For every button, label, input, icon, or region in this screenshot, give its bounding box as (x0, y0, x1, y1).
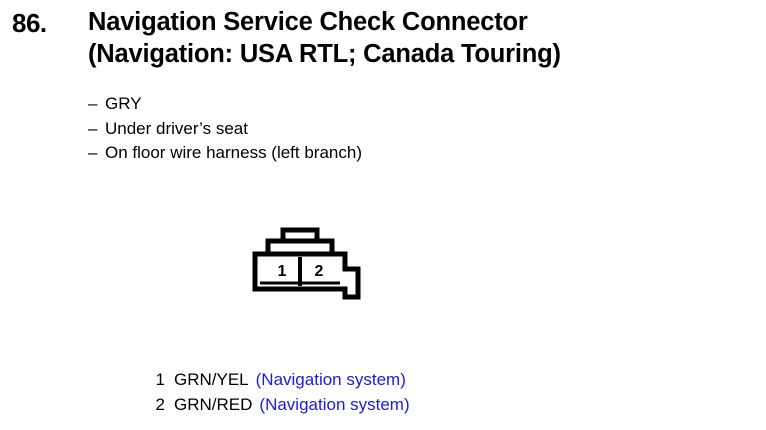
pin-legend-row: 2GRN/RED(Navigation system) (152, 392, 410, 417)
pin-wire-color: GRN/RED (174, 395, 252, 414)
list-item: –Under driver’s seat (88, 117, 362, 142)
pin-number: 2 (152, 392, 165, 417)
pin-description: (Navigation system) (259, 395, 409, 414)
page-title: Navigation Service Check Connector (Navi… (88, 6, 760, 70)
connector-diagram: 1 2 (250, 226, 380, 316)
detail-list: –GRY –Under driver’s seat –On floor wire… (88, 92, 362, 166)
list-item-label: GRY (105, 94, 142, 113)
cavity-label-2: 2 (315, 263, 324, 280)
list-item: –On floor wire harness (left branch) (88, 141, 362, 166)
pin-wire-color: GRN/YEL (174, 370, 249, 389)
dash-icon: – (88, 92, 105, 117)
list-item-label: On floor wire harness (left branch) (105, 143, 362, 162)
pin-legend-row: 1GRN/YEL(Navigation system) (152, 367, 410, 392)
page-title-line-2: (Navigation: USA RTL; Canada Touring) (88, 38, 760, 70)
dash-icon: – (88, 141, 105, 166)
connector-housing (255, 254, 358, 297)
pin-number: 1 (152, 367, 165, 392)
page-title-line-1: Navigation Service Check Connector (88, 6, 760, 38)
item-number: 86. (12, 8, 47, 39)
dash-icon: – (88, 117, 105, 142)
cavity-label-1: 1 (278, 263, 287, 280)
list-item-label: Under driver’s seat (105, 119, 248, 138)
pin-description: (Navigation system) (256, 370, 406, 389)
list-item: –GRY (88, 92, 362, 117)
pin-legend: 1GRN/YEL(Navigation system) 2GRN/RED(Nav… (152, 367, 410, 417)
connector-outline-svg: 1 2 (250, 226, 380, 316)
